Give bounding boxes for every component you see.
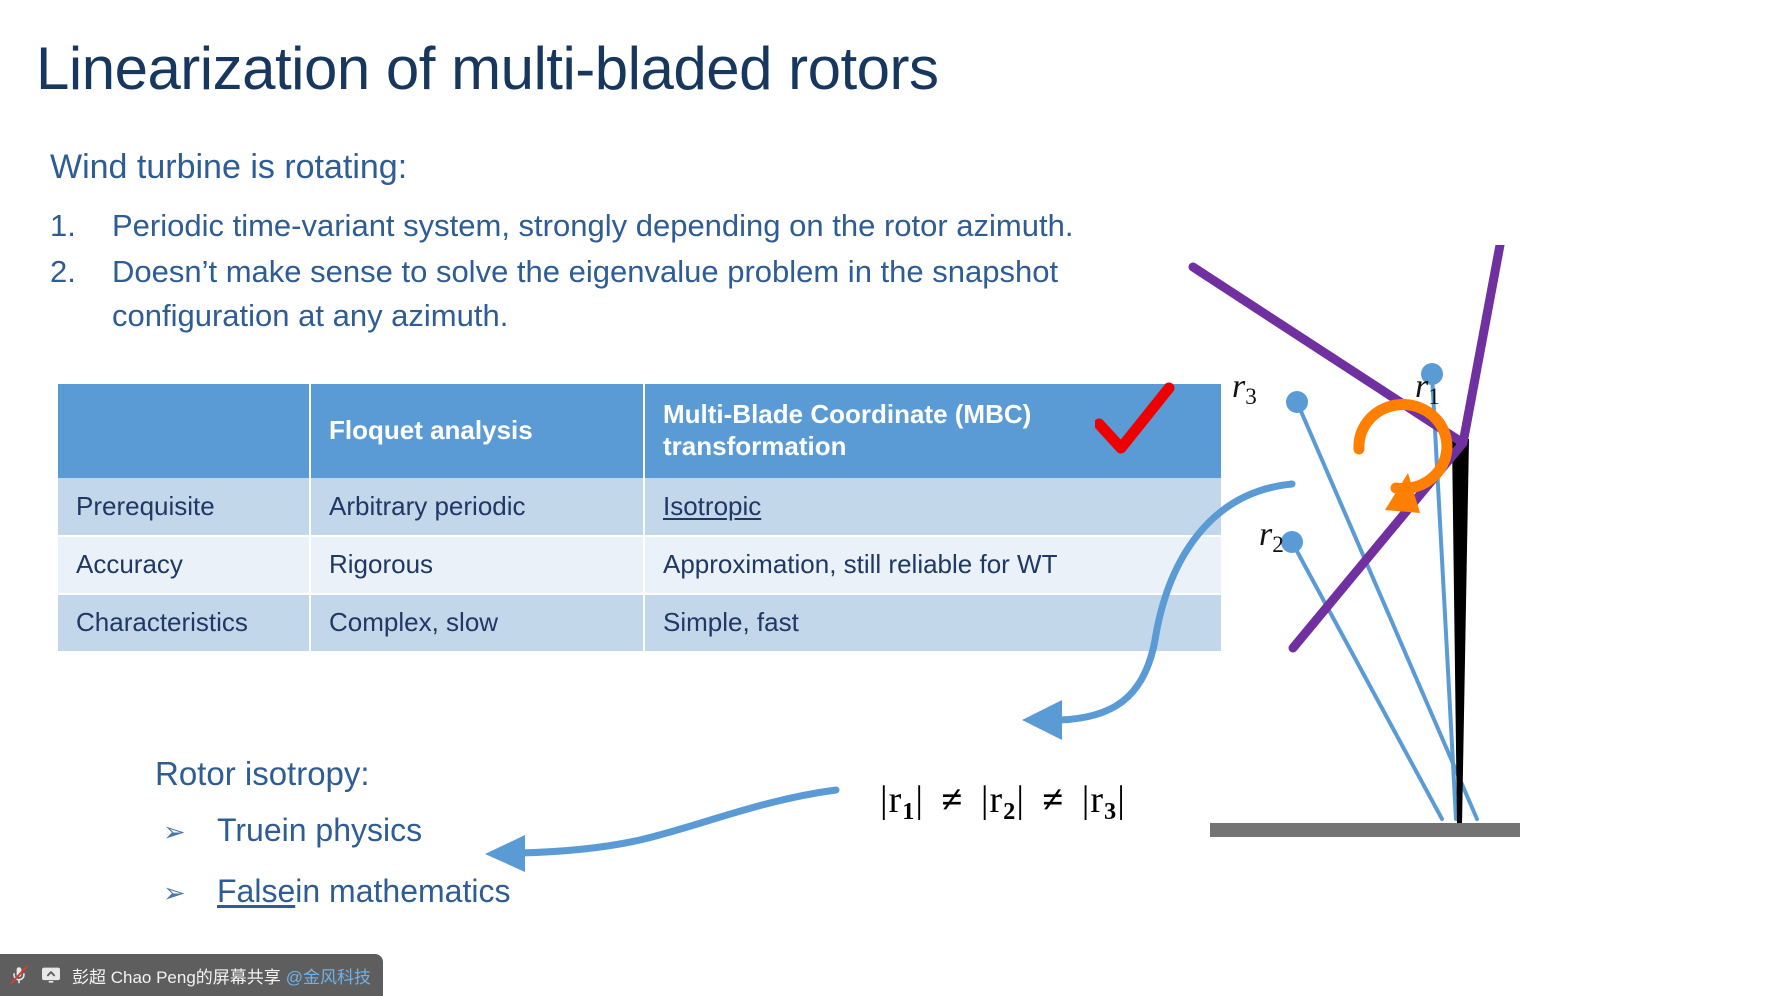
- formula-part: |: [1016, 779, 1035, 821]
- microphone-muted-icon[interactable]: [8, 964, 30, 986]
- row-label: Prerequisite: [58, 478, 310, 536]
- isotropy-heading: Rotor isotropy:: [155, 755, 370, 793]
- formula-part: ≠: [935, 779, 971, 821]
- cell-mbc: Isotropic: [644, 478, 1221, 536]
- formula-part: |: [915, 779, 934, 821]
- label-r1: r1: [1415, 368, 1440, 411]
- isotropy-item-emphasis: True: [217, 812, 282, 849]
- comparison-table: Floquet analysis Multi-Blade Coordinate …: [58, 384, 1221, 653]
- formula-part: 3: [1104, 798, 1117, 825]
- formula-part: |r: [970, 779, 1003, 821]
- cell-mbc: Simple, fast: [644, 594, 1221, 652]
- table-header-mbc: Multi-Blade Coordinate (MBC) transformat…: [644, 384, 1221, 478]
- table-row: Accuracy Rigorous Approximation, still r…: [58, 536, 1221, 594]
- formula-part: 1: [902, 798, 915, 825]
- list-item: ➢ True in physics: [163, 812, 510, 849]
- share-handle: @金风科技: [286, 963, 371, 988]
- cell-floquet: Rigorous: [310, 536, 644, 594]
- arrow-bullet-icon: ➢: [163, 817, 217, 848]
- formula-part: |: [1117, 779, 1126, 821]
- formula-part: ≠: [1035, 779, 1071, 821]
- screen-share-icon[interactable]: [40, 964, 62, 986]
- table-header-floquet: Floquet analysis: [310, 384, 644, 478]
- cell-floquet: Arbitrary periodic: [310, 478, 644, 536]
- cell-floquet: Complex, slow: [310, 594, 644, 652]
- inequality-formula: |r1| ≠ |r2| ≠ |r3|: [880, 778, 1126, 826]
- cell-mbc-underlined-text: Isotropic: [663, 491, 761, 521]
- formula-part: |r: [1071, 779, 1104, 821]
- list-item: ➢ False in mathematics: [163, 873, 510, 910]
- isotropy-item-rest: in physics: [282, 812, 423, 849]
- share-status-text: 彭超 Chao Peng的屏幕共享: [72, 963, 281, 988]
- row-label: Accuracy: [58, 536, 310, 594]
- rotation-arrow-icon: [1359, 405, 1447, 513]
- label-r3: r3: [1232, 368, 1257, 411]
- isotropy-list: ➢ True in physics ➢ False in mathematics: [163, 812, 510, 934]
- numbered-list: 1. Periodic time-variant system, strongl…: [50, 204, 1230, 340]
- screen-share-taskbar[interactable]: 彭超 Chao Peng的屏幕共享 @金风科技: [0, 954, 383, 996]
- isotropy-item-emphasis: False: [217, 873, 295, 910]
- list-item: 2. Doesn’t make sense to solve the eigen…: [50, 250, 1230, 338]
- arrow-bullet-icon: ➢: [163, 878, 217, 909]
- intro-heading: Wind turbine is rotating:: [50, 148, 407, 187]
- wind-turbine-rotor-diagram: [1180, 245, 1740, 925]
- table-header-blank: [58, 384, 310, 478]
- table-row: Characteristics Complex, slow Simple, fa…: [58, 594, 1221, 652]
- table-row: Prerequisite Arbitrary periodic Isotropi…: [58, 478, 1221, 536]
- ground-line: [1210, 823, 1520, 837]
- cell-mbc: Approximation, still reliable for WT: [644, 536, 1221, 594]
- label-r2: r2: [1259, 516, 1284, 559]
- formula-part: |r: [880, 779, 902, 821]
- list-item-text: Doesn’t make sense to solve the eigenval…: [112, 250, 1230, 338]
- row-label: Characteristics: [58, 594, 310, 652]
- list-item-text: Periodic time-variant system, strongly d…: [112, 204, 1230, 248]
- table-header-row: Floquet analysis Multi-Blade Coordinate …: [58, 384, 1221, 478]
- slide-canvas: Linearization of multi-bladed rotors Win…: [0, 0, 1768, 996]
- list-item: 1. Periodic time-variant system, strongl…: [50, 204, 1230, 248]
- formula-part: 2: [1003, 798, 1016, 825]
- list-item-number: 2.: [50, 250, 112, 338]
- page-title: Linearization of multi-bladed rotors: [36, 34, 938, 103]
- list-item-number: 1.: [50, 204, 112, 248]
- isotropy-item-rest: in mathematics: [295, 873, 510, 910]
- arrow-formula-to-bullet: [485, 790, 836, 872]
